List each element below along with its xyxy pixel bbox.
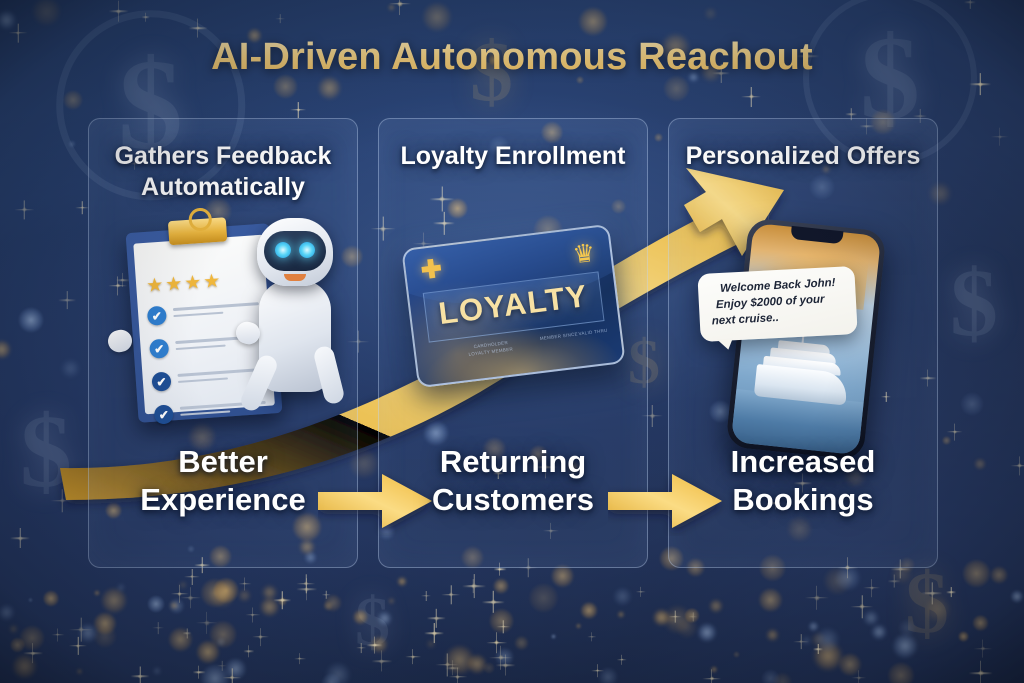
page-title: AI-Driven Autonomous Reachout [0, 36, 1024, 79]
sparkle [981, 646, 985, 650]
sparkle [451, 666, 455, 670]
bokeh-particle [733, 651, 740, 658]
sparkle [243, 582, 246, 585]
bokeh-particle [467, 654, 487, 674]
sparkle [445, 662, 451, 668]
bokeh-particle [216, 637, 226, 647]
sparkle [258, 635, 262, 639]
sparkle [247, 650, 250, 653]
star-icon: ★ [184, 271, 203, 295]
bokeh-particle [61, 359, 80, 378]
bokeh-particle [684, 608, 699, 623]
bokeh-particle [77, 669, 82, 674]
panel-2-outcome: Returning Customers [383, 443, 643, 519]
bokeh-particle [224, 658, 246, 680]
robot-body [259, 280, 331, 392]
sparkle [857, 676, 861, 680]
phone-screen [731, 223, 881, 455]
bokeh-particle [0, 10, 16, 29]
text-line [180, 410, 230, 416]
sparkle [950, 591, 952, 593]
sparkle [221, 665, 223, 667]
bokeh-particle [68, 140, 76, 148]
bokeh-particle [0, 604, 15, 621]
sparkle [22, 207, 27, 212]
sparkle [471, 583, 477, 589]
bokeh-particle [94, 590, 100, 596]
sparkle [116, 9, 121, 14]
bokeh-particle [93, 612, 117, 636]
bokeh-particle [93, 625, 117, 649]
dollar-watermark: $ [20, 400, 72, 504]
bokeh-particle [260, 597, 279, 616]
bokeh-particle [514, 636, 529, 651]
bokeh-particle [397, 577, 406, 586]
sparkle [692, 616, 694, 618]
bokeh-particle [168, 598, 185, 615]
sparkle [190, 575, 194, 579]
sparkle [78, 627, 84, 633]
bokeh-particle [377, 611, 392, 626]
sparkle [297, 108, 301, 112]
bokeh-particle [576, 623, 582, 629]
sparkle [498, 655, 504, 661]
sparkle [411, 655, 415, 659]
sparkle [596, 669, 599, 672]
bokeh-particle [325, 662, 351, 683]
bokeh-particle [489, 608, 514, 633]
bokeh-particle [811, 632, 826, 647]
bokeh-particle [668, 615, 677, 624]
sparkle [16, 31, 20, 35]
bokeh-particle [209, 620, 238, 649]
bokeh-particle [962, 559, 991, 588]
bokeh-particle [483, 662, 495, 674]
bokeh-particle [213, 577, 239, 603]
sparkle [591, 636, 593, 638]
bokeh-particle [117, 583, 125, 591]
bokeh-particle [323, 601, 333, 611]
bokeh-particle [101, 587, 127, 613]
bokeh-particle [578, 7, 607, 36]
bokeh-particle [493, 578, 509, 594]
bokeh-particle [170, 602, 178, 610]
offer-message-bubble: Welcome Back John! Enjoy $2000 of your n… [697, 266, 857, 342]
sparkle [298, 657, 301, 660]
sparkle [799, 640, 803, 644]
crown-icon: ♛ [571, 238, 597, 271]
sparkle [279, 17, 281, 19]
sparkle [978, 670, 984, 676]
sparkle [472, 584, 475, 587]
sparkle [969, 1, 972, 4]
bokeh-particle [598, 667, 618, 683]
bokeh-particle [653, 609, 670, 626]
sparkle [1017, 463, 1022, 468]
bokeh-particle [262, 585, 277, 600]
sparkle [893, 580, 896, 583]
bokeh-particle [196, 640, 220, 664]
loyalty-card: ✚ ♛ LOYALTY CARDHOLDER LOYALTY MEMBER ME… [401, 224, 626, 388]
sparkle [859, 604, 865, 610]
sparkle [76, 644, 80, 648]
cruise-ship-icon [754, 330, 853, 405]
bokeh-particle [892, 633, 918, 659]
bokeh-particle [321, 673, 340, 683]
sparkle [65, 298, 69, 302]
robot-eye-icon [299, 242, 315, 258]
bokeh-particle [808, 621, 819, 632]
rating-stars: ★ ★ ★ ★ [146, 270, 222, 298]
dollar-watermark: $ [905, 560, 949, 648]
bokeh-particle [32, 0, 60, 26]
bokeh-particle [10, 626, 16, 632]
robot-visor [264, 231, 326, 271]
bokeh-particle [697, 623, 716, 642]
sparkle [978, 82, 983, 87]
bokeh-particle [1010, 590, 1024, 604]
check-icon: ✔ [151, 371, 171, 391]
robot-eye-icon [275, 242, 291, 258]
sparkle [640, 591, 642, 593]
panel-3-heading: Personalized Offers [677, 141, 929, 172]
bokeh-particle [12, 654, 37, 679]
sparkle [196, 26, 201, 31]
star-icon: ★ [203, 270, 222, 294]
sparkle [650, 413, 655, 418]
bokeh-particle [551, 634, 556, 639]
bokeh-particle [990, 566, 1008, 584]
panel-1-heading: Gathers Feedback Automatically [97, 141, 349, 202]
robot-mouth [284, 274, 306, 281]
bokeh-particle [278, 597, 287, 606]
sparkle [138, 674, 143, 679]
bokeh-particle [63, 90, 83, 110]
robot-arm-left [238, 352, 280, 413]
bokeh-particle [758, 588, 783, 613]
bokeh-particle [389, 598, 395, 604]
bokeh-particle [427, 640, 435, 648]
bokeh-particle [654, 133, 664, 143]
bokeh-particle [958, 631, 969, 642]
bokeh-particle [618, 611, 624, 617]
sparkle [502, 625, 505, 628]
star-icon: ★ [165, 272, 184, 296]
check-icon: ✔ [149, 339, 169, 359]
sparkle [280, 598, 284, 602]
robot-arm-right [312, 344, 345, 405]
bokeh-particle [709, 599, 723, 613]
plus-icon: ✚ [420, 260, 443, 283]
bokeh-particle [324, 594, 342, 612]
sparkle [360, 647, 362, 649]
sparkle [60, 498, 66, 504]
panel-3-outcome: Increased Bookings [673, 443, 933, 519]
bokeh-particle [43, 590, 60, 607]
bokeh-particle [78, 623, 98, 643]
bokeh-particle [147, 595, 165, 613]
text-line [176, 344, 226, 350]
sparkle [188, 595, 193, 600]
sparkle [674, 615, 677, 618]
sparkle [449, 592, 454, 597]
sparkle [81, 206, 84, 209]
bokeh-particle [802, 636, 811, 645]
sparkle [503, 663, 508, 668]
bokeh-particle [974, 458, 986, 470]
sparkle [379, 659, 384, 664]
bokeh-particle [154, 668, 160, 674]
bokeh-particle [823, 567, 851, 595]
text-line [178, 377, 228, 383]
bokeh-particle [676, 617, 697, 638]
sparkle [18, 536, 23, 541]
bokeh-particle [898, 619, 916, 637]
bokeh-particle [960, 392, 984, 416]
bokeh-particle [0, 340, 11, 359]
sparkle [425, 595, 427, 597]
bokeh-particle [813, 641, 843, 671]
bokeh-particle [773, 672, 793, 683]
panel-2-heading: Loyalty Enrollment [387, 141, 639, 172]
sparkle [434, 616, 438, 620]
bokeh-particle [495, 647, 514, 666]
text-line [173, 311, 223, 317]
sparkle [177, 592, 181, 596]
bokeh-particle [704, 7, 717, 20]
sparkle [56, 633, 59, 636]
bokeh-particle [766, 629, 779, 642]
sparkle [930, 591, 935, 596]
bokeh-particle [353, 609, 369, 625]
bokeh-particle [238, 589, 251, 602]
bokeh-particle [835, 565, 861, 591]
sparkle [230, 675, 235, 680]
clipboard-clip [168, 217, 228, 245]
bokeh-particle [580, 602, 598, 620]
bokeh-particle [18, 307, 44, 333]
sparkle [494, 640, 499, 645]
bokeh-particle [318, 76, 342, 100]
sparkle [373, 643, 377, 647]
bokeh-particle [422, 2, 452, 32]
sparkle [186, 632, 188, 634]
bokeh-particle [887, 662, 914, 683]
bokeh-particle [200, 664, 229, 683]
bokeh-particle [444, 645, 475, 676]
sparkle [157, 627, 160, 630]
bokeh-particle [863, 610, 879, 626]
bokeh-particle [388, 4, 395, 11]
sparkle [814, 595, 820, 601]
bokeh-particle [838, 653, 861, 676]
bokeh-particle [200, 578, 229, 607]
bokeh-particle [28, 597, 34, 603]
bokeh-particle [972, 615, 988, 631]
sparkle [621, 658, 623, 660]
star-icon: ★ [146, 274, 165, 298]
sparkle [197, 671, 200, 674]
bokeh-particle [761, 669, 780, 683]
bokeh-particle [942, 436, 951, 445]
sparkle [817, 648, 819, 650]
sparkle [251, 613, 255, 617]
check-icon: ✔ [147, 306, 167, 326]
bokeh-particle [210, 582, 236, 608]
bokeh-particle [613, 587, 632, 606]
sparkle [998, 135, 1002, 139]
sparkle [304, 581, 309, 586]
bokeh-particle [925, 596, 951, 622]
dollar-watermark: $ [950, 255, 998, 351]
sparkle [31, 651, 36, 656]
bokeh-particle [168, 627, 192, 651]
bokeh-particle [528, 583, 558, 613]
bokeh-particle [710, 666, 718, 674]
panel-1-outcome: Better Experience [93, 443, 353, 519]
sparkle [304, 587, 309, 592]
sparkle [325, 594, 327, 596]
bokeh-particle [871, 624, 887, 640]
bokeh-particle [663, 605, 692, 634]
bokeh-particle [19, 625, 45, 651]
sparkle [710, 676, 715, 681]
robot-head [257, 218, 333, 286]
sparkle [432, 631, 437, 636]
bokeh-particle [10, 637, 25, 652]
bokeh-particle [370, 636, 387, 653]
sparkle [397, 1, 402, 6]
feedback-robot [243, 218, 347, 423]
sparkle [850, 113, 853, 116]
sparkle [870, 586, 874, 590]
bokeh-particle [179, 581, 188, 590]
sparkle [455, 675, 460, 680]
sparkle [204, 620, 209, 625]
sparkle [749, 94, 754, 99]
sparkle [953, 430, 957, 434]
dollar-watermark: $ [355, 588, 390, 658]
bokeh-particle [815, 627, 841, 653]
infographic-canvas: $ $ $ $ $ $ $ $ [0, 0, 1024, 683]
sparkle [145, 16, 147, 18]
sparkle [491, 599, 496, 604]
check-icon: ✔ [154, 404, 174, 424]
